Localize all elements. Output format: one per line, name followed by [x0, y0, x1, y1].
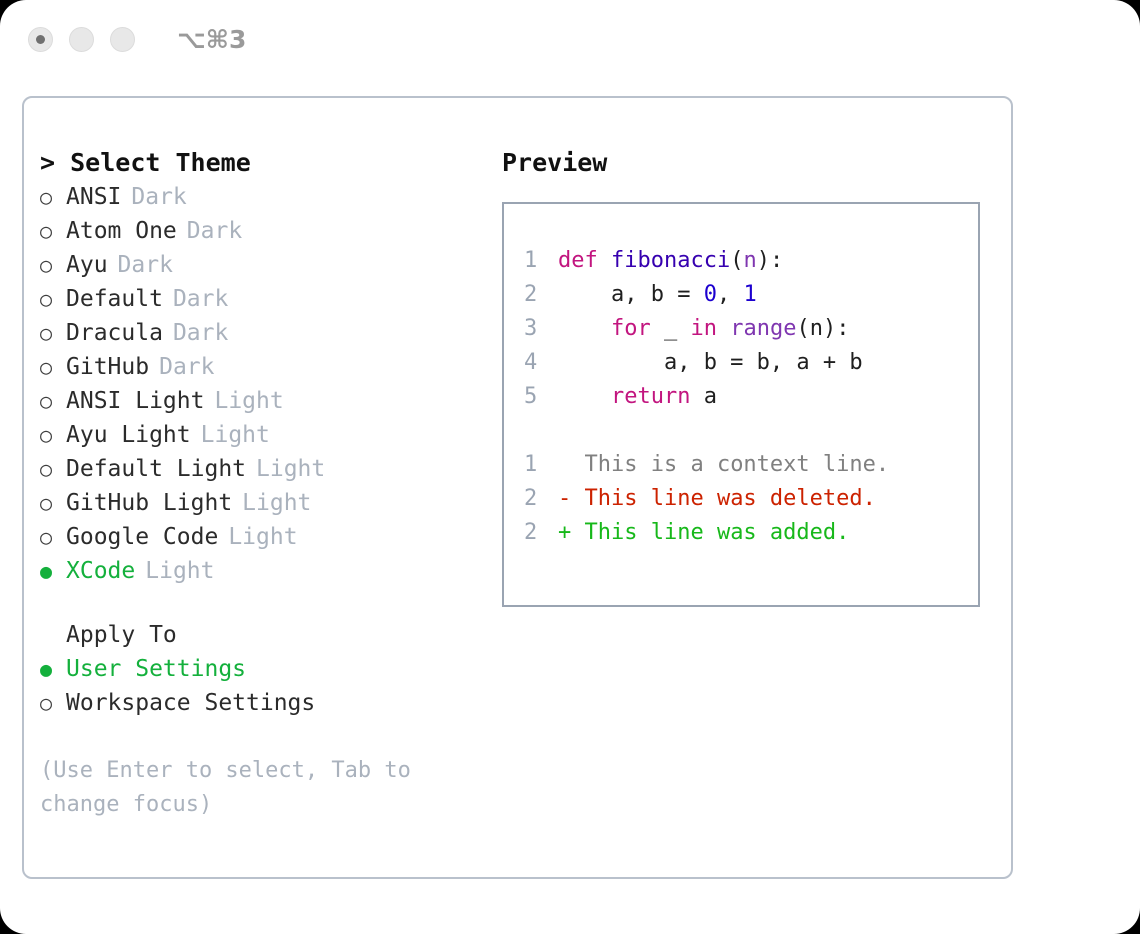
theme-name-label: Dracula	[66, 316, 163, 350]
diff-line: 1 This is a context line.	[524, 448, 978, 482]
line-number: 2	[524, 482, 558, 516]
radio-unselected-icon[interactable]: ○	[40, 180, 66, 214]
theme-list-item[interactable]: ○Default LightLight	[40, 452, 480, 486]
code-token: 0	[704, 278, 717, 312]
code-token: a, b = b, a + b	[558, 346, 863, 380]
code-token: in	[690, 312, 717, 346]
theme-list-item[interactable]: ○AyuDark	[40, 248, 480, 282]
theme-name-label: Atom One	[66, 214, 177, 248]
code-token: ,	[717, 278, 744, 312]
apply-to-list: ●User Settings○Workspace Settings	[40, 652, 480, 720]
line-number: 3	[524, 312, 558, 346]
radio-unselected-icon[interactable]: ○	[40, 214, 66, 248]
theme-variant-label: Dark	[118, 248, 173, 282]
apply-to-label: User Settings	[66, 652, 246, 686]
code-token: def	[558, 244, 598, 278]
theme-variant-label: Dark	[187, 214, 242, 248]
theme-name-label: XCode	[66, 554, 135, 588]
code-sample: 1def fibonacci(n):2 a, b = 0, 13 for _ i…	[524, 244, 978, 414]
radio-unselected-icon[interactable]: ○	[40, 350, 66, 384]
window-maximize-dot[interactable]	[110, 27, 135, 52]
theme-list-item[interactable]: ○Atom OneDark	[40, 214, 480, 248]
panel-columns: > Select Theme ○ANSIDark○Atom OneDark○Ay…	[24, 98, 1011, 877]
code-token: _	[651, 312, 691, 346]
theme-variant-label: Light	[214, 384, 283, 418]
window-dot-indicator	[36, 35, 45, 44]
code-token	[598, 244, 611, 278]
select-theme-heading-label: Select Theme	[70, 148, 251, 177]
theme-list-item[interactable]: ○ANSIDark	[40, 180, 480, 214]
main-panel: > Select Theme ○ANSIDark○Atom OneDark○Ay…	[22, 96, 1013, 879]
theme-list-item[interactable]: ●XCodeLight	[40, 554, 480, 588]
code-token: range	[730, 312, 796, 346]
diff-text: This is a context line.	[571, 448, 889, 482]
code-token	[558, 380, 611, 414]
theme-list-item[interactable]: ○GitHubDark	[40, 350, 480, 384]
diff-line: 2- This line was deleted.	[524, 482, 978, 516]
radio-unselected-icon[interactable]: ○	[40, 686, 66, 720]
diff-marker: -	[558, 482, 571, 516]
code-line: 1def fibonacci(n):	[524, 244, 978, 278]
window-minimize-dot[interactable]	[69, 27, 94, 52]
theme-name-label: Google Code	[66, 520, 218, 554]
preview-heading: Preview	[502, 146, 1002, 180]
apply-to-item[interactable]: ○Workspace Settings	[40, 686, 480, 720]
theme-list-item[interactable]: ○Google CodeLight	[40, 520, 480, 554]
theme-list-item[interactable]: ○DraculaDark	[40, 316, 480, 350]
radio-selected-icon[interactable]: ●	[40, 652, 66, 686]
radio-unselected-icon[interactable]: ○	[40, 282, 66, 316]
radio-selected-icon[interactable]: ●	[40, 554, 66, 588]
code-token: (n):	[796, 312, 849, 346]
theme-variant-label: Dark	[131, 180, 186, 214]
apply-to-heading: Apply To	[40, 618, 480, 652]
keyboard-shortcut-label: ⌥⌘3	[177, 25, 246, 54]
theme-variant-label: Light	[201, 418, 270, 452]
code-token: 1	[743, 278, 756, 312]
radio-unselected-icon[interactable]: ○	[40, 316, 66, 350]
diff-text: This line was added.	[571, 516, 849, 550]
theme-name-label: GitHub	[66, 350, 149, 384]
window-close-dot[interactable]	[28, 27, 53, 52]
theme-variant-label: Light	[228, 520, 297, 554]
radio-unselected-icon[interactable]: ○	[40, 520, 66, 554]
theme-name-label: Ayu	[66, 248, 108, 282]
theme-variant-label: Light	[256, 452, 325, 486]
line-number: 1	[524, 448, 558, 482]
theme-list-item[interactable]: ○Ayu LightLight	[40, 418, 480, 452]
theme-variant-label: Light	[242, 486, 311, 520]
keyboard-hint-text: (Use Enter to select, Tab to change focu…	[40, 754, 450, 822]
line-number: 2	[524, 278, 558, 312]
line-number: 5	[524, 380, 558, 414]
code-token: n	[743, 244, 756, 278]
title-bar: ⌥⌘3	[0, 0, 1140, 78]
theme-list-item[interactable]: ○DefaultDark	[40, 282, 480, 316]
code-line: 2 a, b = 0, 1	[524, 278, 978, 312]
theme-variant-label: Dark	[173, 282, 228, 316]
apply-to-heading-label: Apply To	[66, 618, 177, 652]
diff-marker: +	[558, 516, 571, 550]
code-token: ):	[757, 244, 784, 278]
app-window: ⌥⌘3 > Select Theme ○ANSIDark○Atom OneDar…	[0, 0, 1140, 934]
preview-column: Preview 1def fibonacci(n):2 a, b = 0, 13…	[502, 146, 1002, 607]
diff-sample: 1 This is a context line.2- This line wa…	[524, 448, 978, 550]
code-token: return	[611, 380, 690, 414]
diff-text: This line was deleted.	[571, 482, 876, 516]
theme-name-label: Ayu Light	[66, 418, 191, 452]
line-number: 2	[524, 516, 558, 550]
code-token: (	[730, 244, 743, 278]
apply-to-item[interactable]: ●User Settings	[40, 652, 480, 686]
line-number: 1	[524, 244, 558, 278]
code-token: for	[611, 312, 651, 346]
radio-unselected-icon[interactable]: ○	[40, 452, 66, 486]
radio-unselected-icon[interactable]: ○	[40, 248, 66, 282]
code-token	[558, 312, 611, 346]
radio-unselected-icon[interactable]: ○	[40, 418, 66, 452]
theme-name-label: ANSI Light	[66, 384, 204, 418]
code-token: a	[690, 380, 717, 414]
theme-variant-label: Dark	[159, 350, 214, 384]
prompt-caret-icon: >	[40, 148, 55, 177]
theme-name-label: ANSI	[66, 180, 121, 214]
select-theme-heading: > Select Theme	[40, 146, 480, 180]
diff-marker	[558, 448, 571, 482]
apply-to-heading-spacer	[40, 618, 66, 652]
line-number: 4	[524, 346, 558, 380]
theme-variant-label: Light	[145, 554, 214, 588]
theme-list: ○ANSIDark○Atom OneDark○AyuDark○DefaultDa…	[40, 180, 480, 588]
code-line: 4 a, b = b, a + b	[524, 346, 978, 380]
code-line: 5 return a	[524, 380, 978, 414]
code-line: 3 for _ in range(n):	[524, 312, 978, 346]
theme-selection-column: > Select Theme ○ANSIDark○Atom OneDark○Ay…	[40, 146, 480, 822]
theme-name-label: GitHub Light	[66, 486, 232, 520]
code-token: a, b =	[558, 278, 704, 312]
apply-to-label: Workspace Settings	[66, 686, 315, 720]
theme-list-item[interactable]: ○GitHub LightLight	[40, 486, 480, 520]
radio-unselected-icon[interactable]: ○	[40, 384, 66, 418]
code-token: fibonacci	[611, 244, 730, 278]
radio-unselected-icon[interactable]: ○	[40, 486, 66, 520]
code-spacer	[524, 414, 978, 448]
theme-variant-label: Dark	[173, 316, 228, 350]
theme-name-label: Default Light	[66, 452, 246, 486]
theme-name-label: Default	[66, 282, 163, 316]
preview-code-box: 1def fibonacci(n):2 a, b = 0, 13 for _ i…	[502, 202, 980, 607]
code-token	[717, 312, 730, 346]
diff-line: 2+ This line was added.	[524, 516, 978, 550]
theme-list-item[interactable]: ○ANSI LightLight	[40, 384, 480, 418]
